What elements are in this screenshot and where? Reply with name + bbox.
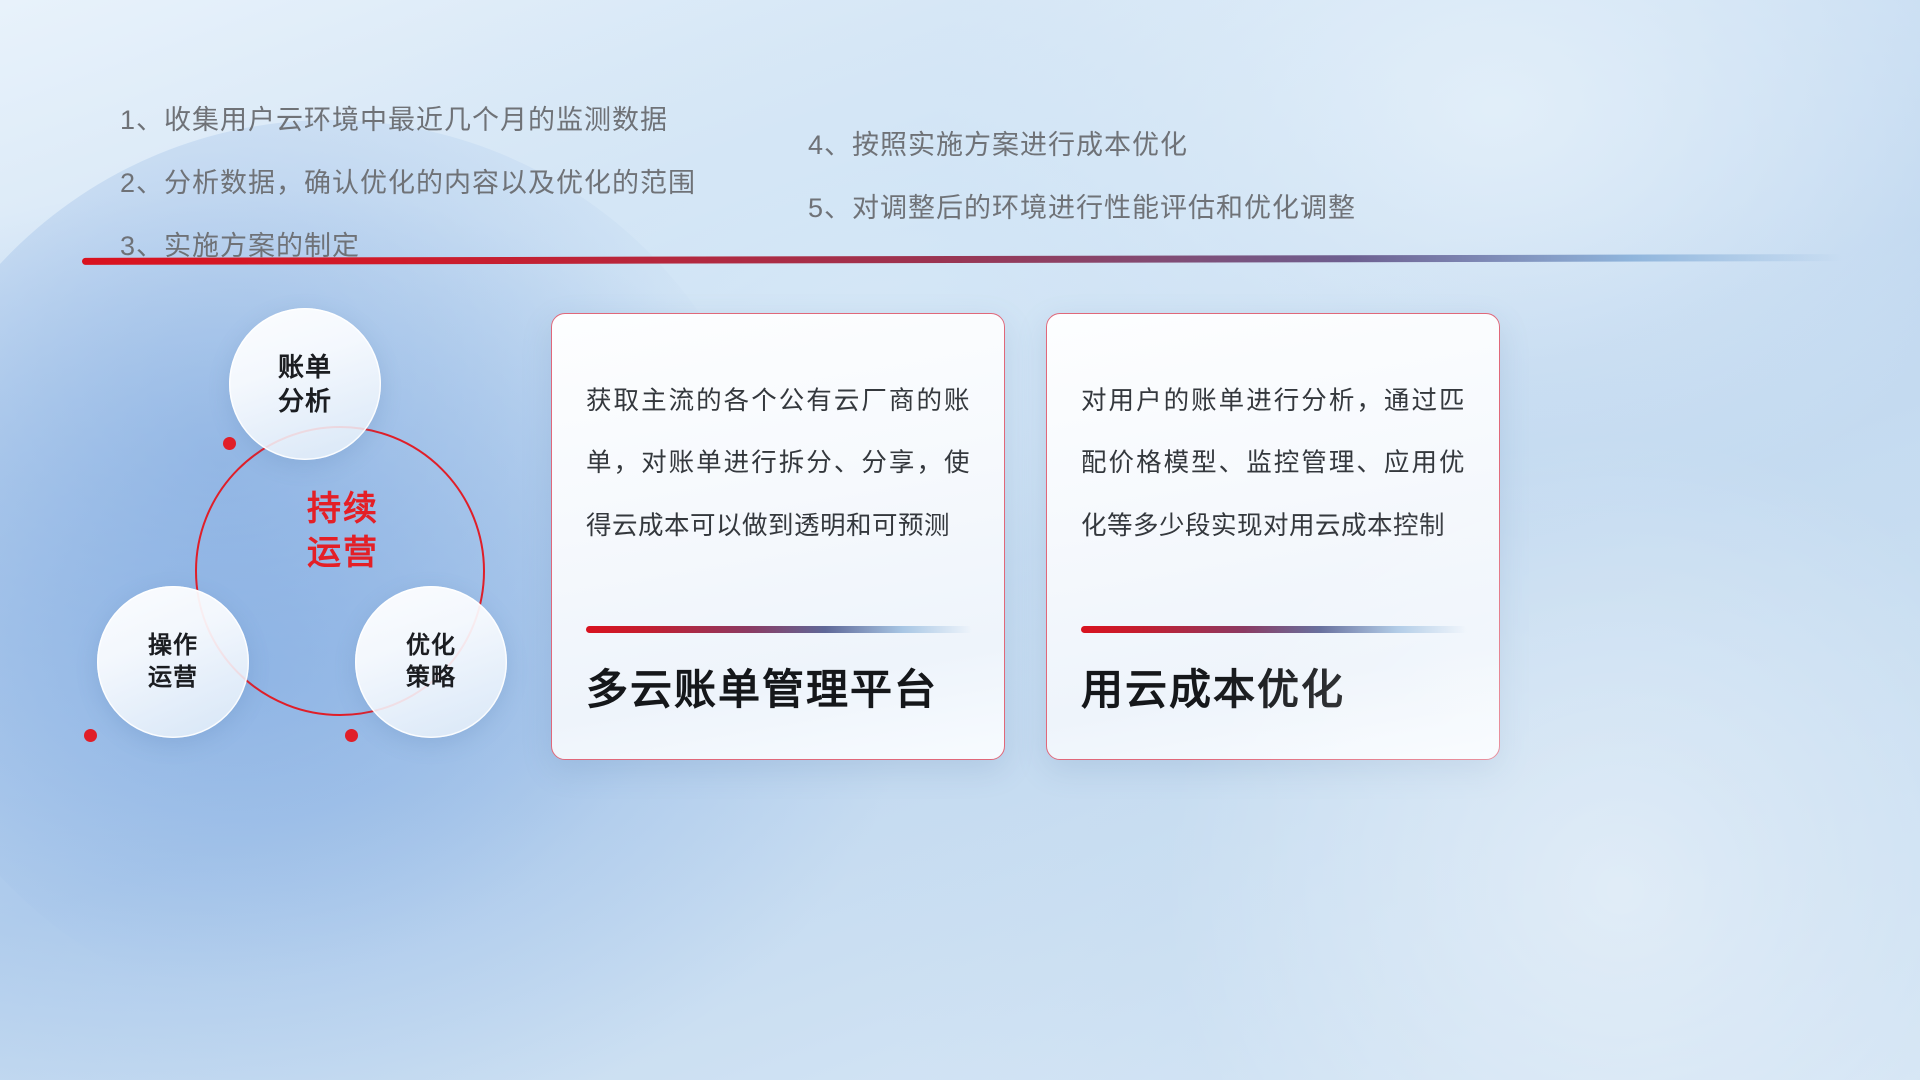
connector-dot-bottom-right xyxy=(345,729,358,742)
bubble-label: 操作 运营 xyxy=(148,630,198,693)
venn-diagram: 账单 分析 操作 运营 优化 策略 持续 运营 xyxy=(75,286,555,776)
step-item-2: 2、分析数据，确认优化的内容以及优化的范围 xyxy=(120,161,696,200)
step-item-4: 4、按照实施方案进行成本优化 xyxy=(808,123,1356,162)
bubble-label-line2: 运营 xyxy=(148,664,198,691)
bubble-optimization-strategy[interactable]: 优化 策略 xyxy=(355,586,507,738)
card-body: 对用户的账单进行分析，通过匹配价格模型、监控管理、应用优化等多少段实现对用云成本… xyxy=(1081,370,1465,557)
center-label: 持续 运营 xyxy=(278,488,408,575)
connector-dot-top xyxy=(223,437,236,450)
card-multicloud-billing[interactable]: 获取主流的各个公有云厂商的账单，对账单进行拆分、分享，使得云成本可以做到透明和可… xyxy=(551,313,1005,760)
bubble-label-line1: 账单 xyxy=(278,352,332,382)
slide-canvas: 1、收集用户云环境中最近几个月的监测数据 2、分析数据，确认优化的内容以及优化的… xyxy=(0,0,1920,1080)
step-item-1: 1、收集用户云环境中最近几个月的监测数据 xyxy=(120,98,696,137)
card-divider xyxy=(1081,626,1467,633)
card-divider xyxy=(586,626,972,633)
center-label-line1: 持续 xyxy=(307,490,379,528)
bubble-label-line1: 操作 xyxy=(148,632,198,659)
card-cloud-cost-optimization[interactable]: 对用户的账单进行分析，通过匹配价格模型、监控管理、应用优化等多少段实现对用云成本… xyxy=(1046,313,1500,760)
bubble-label-line1: 优化 xyxy=(406,632,456,659)
bubble-bill-analysis[interactable]: 账单 分析 xyxy=(229,308,381,460)
bubble-operations[interactable]: 操作 运营 xyxy=(97,586,249,738)
bubble-label-line2: 策略 xyxy=(406,664,456,691)
step-item-5: 5、对调整后的环境进行性能评估和优化调整 xyxy=(808,186,1356,225)
card-title: 多云账单管理平台 xyxy=(586,656,938,717)
bubble-label-line2: 分析 xyxy=(278,386,332,416)
bubble-label: 账单 分析 xyxy=(278,350,332,419)
connector-dot-bottom-left xyxy=(84,729,97,742)
center-label-line2: 运营 xyxy=(307,534,379,572)
card-body: 获取主流的各个公有云厂商的账单，对账单进行拆分、分享，使得云成本可以做到透明和可… xyxy=(586,370,970,557)
card-title: 用云成本优化 xyxy=(1081,656,1345,717)
steps-right-list: 4、按照实施方案进行成本优化 5、对调整后的环境进行性能评估和优化调整 xyxy=(808,123,1356,249)
bubble-label: 优化 策略 xyxy=(406,630,456,693)
